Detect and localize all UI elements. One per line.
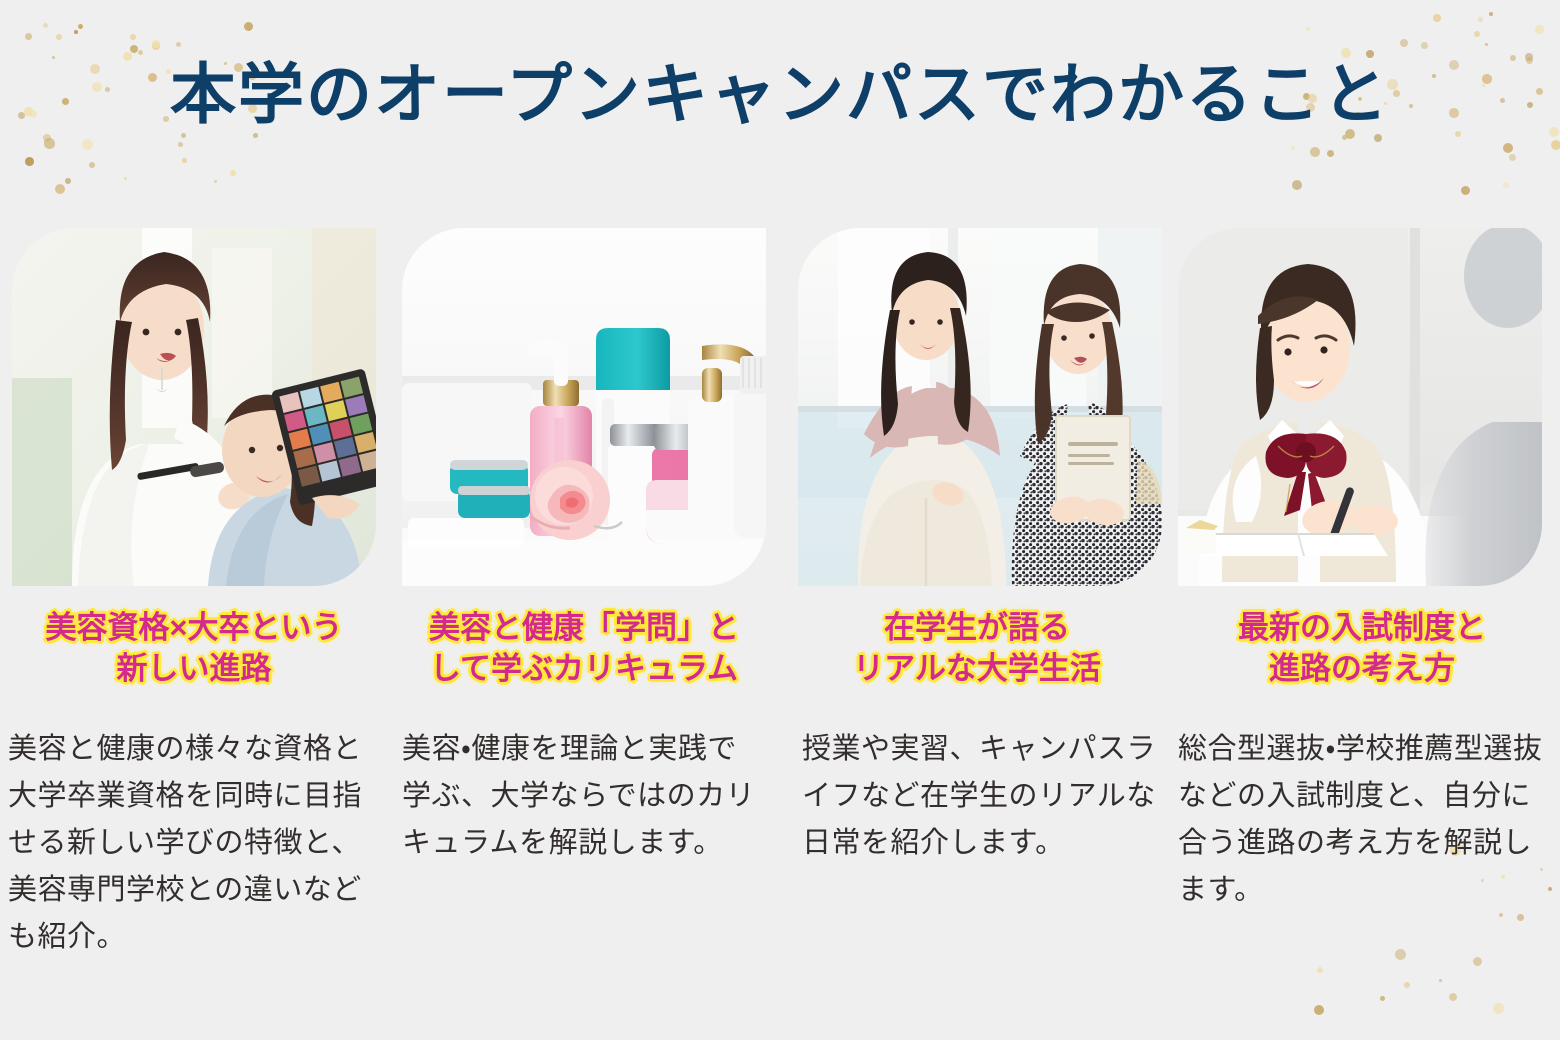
- card-body-text: 美容と健康の様々な資格と大学卒業資格を同時に目指せる新しい学びの特徴と、美容専門…: [8, 726, 376, 961]
- card-heading-line: して学ぶカリキュラム: [402, 649, 766, 690]
- card-heading: 最新の入試制度と 進路の考え方: [1178, 608, 1546, 690]
- card-heading-line: 美容と健康「学問」と: [402, 608, 766, 649]
- feature-card-list: 美容資格×大卒という 新しい進路 美容と健康の様々な資格と大学卒業資格を同時に目…: [0, 228, 1560, 961]
- feature-card: 美容資格×大卒という 新しい進路 美容と健康の様々な資格と大学卒業資格を同時に目…: [0, 228, 390, 961]
- cosmetics-products-photo: [402, 228, 766, 586]
- card-body-text: 総合型選抜・学校推薦型選抜などの入試制度と、自分に合う進路の考え方を解説します。: [1178, 726, 1546, 914]
- admission-consultation-illustration: [1178, 228, 1542, 586]
- cosmetics-illustration: [402, 228, 766, 586]
- promo-page: 本学のオープンキャンパスでわかること: [0, 0, 1560, 1040]
- admission-consultation-photo: [1178, 228, 1542, 586]
- card-heading-line: 在学生が語る: [798, 608, 1156, 649]
- page-title: 本学のオープンキャンパスでわかること: [0, 58, 1560, 131]
- students-talking-illustration: [798, 228, 1162, 586]
- card-heading: 在学生が語る リアルな大学生活: [798, 608, 1156, 690]
- card-heading: 美容と健康「学問」と して学ぶカリキュラム: [402, 608, 766, 690]
- makeup-lesson-photo: [12, 228, 376, 586]
- feature-card: 在学生が語る リアルな大学生活 授業や実習、キャンパスライフなど在学生のリアルな…: [780, 228, 1170, 961]
- card-heading: 美容資格×大卒という 新しい進路: [12, 608, 376, 690]
- card-body-text: 授業や実習、キャンパスライフなど在学生のリアルな日常を紹介します。: [802, 726, 1156, 867]
- feature-card: 美容と健康「学問」と して学ぶカリキュラム 美容・健康を理論と実践で学ぶ、大学な…: [390, 228, 780, 961]
- card-heading-line: リアルな大学生活: [798, 649, 1156, 690]
- card-heading-line: 進路の考え方: [1178, 649, 1546, 690]
- feature-card: 最新の入試制度と 進路の考え方 総合型選抜・学校推薦型選抜などの入試制度と、自分…: [1170, 228, 1560, 961]
- makeup-lesson-illustration: [12, 228, 376, 586]
- card-heading-line: 美容資格×大卒という: [12, 608, 376, 649]
- students-talking-photo: [798, 228, 1162, 586]
- card-heading-line: 最新の入試制度と: [1178, 608, 1546, 649]
- card-body-text: 美容・健康を理論と実践で学ぶ、大学ならではのカリキュラムを解説します。: [402, 726, 766, 867]
- card-heading-line: 新しい進路: [12, 649, 376, 690]
